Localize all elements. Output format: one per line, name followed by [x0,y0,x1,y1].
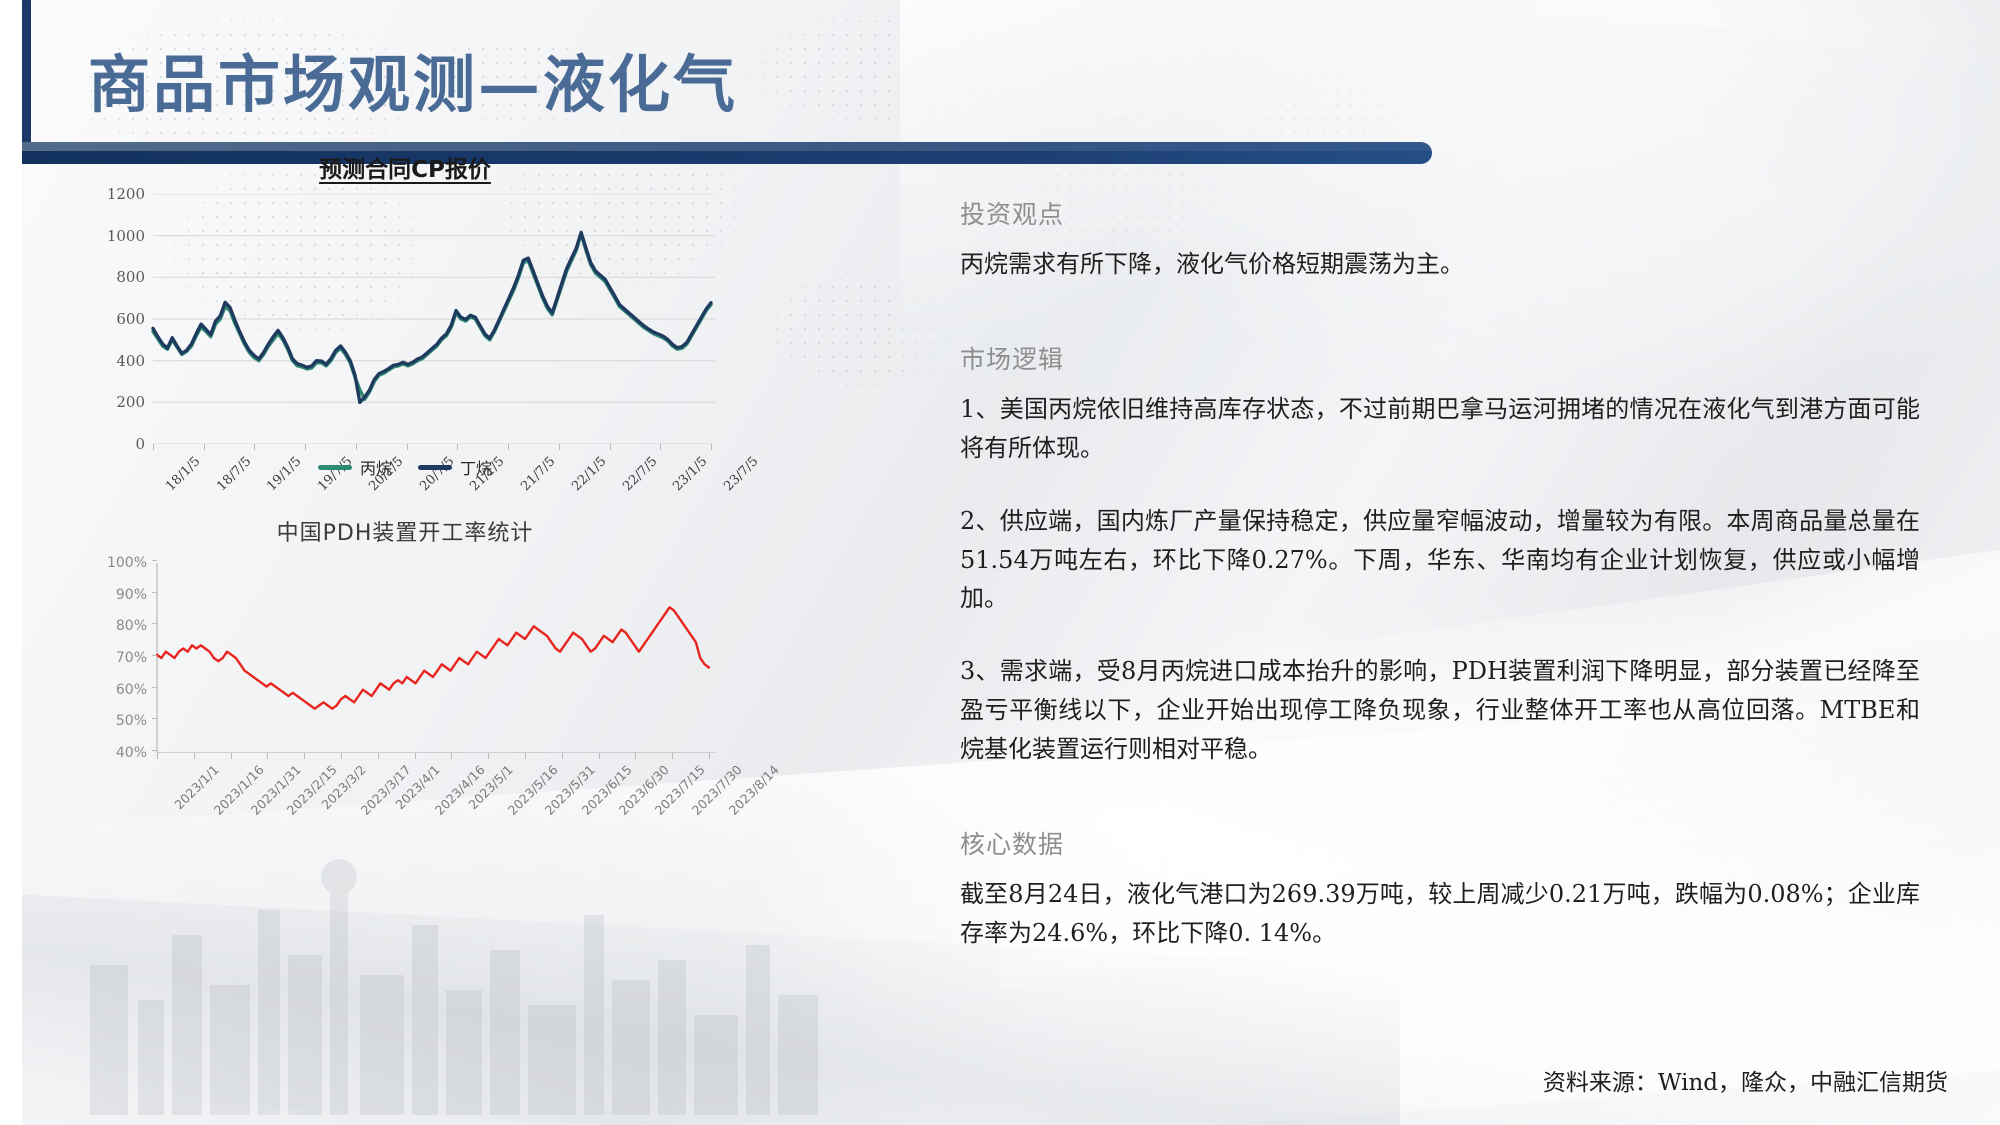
chart1-y-tick: 0 [135,435,145,453]
left-white-edge [0,0,22,1125]
chart2-x-tickmark [378,753,379,759]
commentary-panel: 投资观点 丙烷需求有所下降，液化气价格短期震荡为主。 市场逻辑 1、美国丙烷依旧… [960,195,1920,953]
section-heading: 市场逻辑 [960,340,1920,376]
chart1-tickmark [711,444,712,450]
chart2-x-tickmark [672,753,673,759]
section-paragraph: 3、需求端，受8月丙烷进口成本抬升的影响，PDH装置利润下降明显，部分装置已经降… [960,652,1920,769]
chart1-y-tick: 600 [116,310,145,328]
chart1-tickmark [457,444,458,450]
chart1-y-tick: 400 [116,352,145,370]
chart2-x-tickmark [635,753,636,759]
chart1-legend-item: 丁烷 [418,455,492,479]
chart2-x-tickmark [231,753,232,759]
chart2-x-tickmark [562,753,563,759]
chart2-x-tickmark [525,753,526,759]
chart1-plot-area [95,194,715,444]
chart-cp-forecast: 预测合同CP报价 020040060080010001200 18/1/518/… [95,150,715,490]
section-market-logic: 市场逻辑 1、美国丙烷依旧维持高库存状态，不过前期巴拿马运河拥堵的情况在液化气到… [960,340,1920,769]
chart1-tickmark [407,444,408,450]
chart2-y-tickmark [152,718,157,719]
chart2-y-tickmark [152,560,157,561]
legend-swatch [418,465,452,470]
chart1-tickmark [254,444,255,450]
spacer [960,468,1920,502]
chart1-tickmark [356,444,357,450]
chart2-y-tickmark [152,623,157,624]
chart2-y-tickmark [152,687,157,688]
chart2-y-tick: 40% [116,745,147,761]
chart2-y-tickmark [152,655,157,656]
section-paragraph: 2、供应端，国内炼厂产量保持稳定，供应量窄幅波动，增量较为有限。本周商品量总量在… [960,502,1920,619]
chart2-x-tickmark [341,753,342,759]
chart1-tickmark [610,444,611,450]
chart2-x-tickmark [709,753,710,759]
chart2-y-tickmark [152,592,157,593]
section-investment-view: 投资观点 丙烷需求有所下降，液化气价格短期震荡为主。 [960,195,1920,284]
spacer [960,618,1920,652]
source-note: 资料来源：Wind，隆众，中融汇信期货 [1543,1063,1948,1097]
chart2-y-tick: 90% [116,587,147,603]
chart2-x-tickmark [304,753,305,759]
chart1-tickmark [508,444,509,450]
chart1-series-svg [95,194,715,444]
chart-pdh-utilization: 中国PDH装置开工率统计 40%50%60%70%80%90%100% 2023… [95,515,715,845]
chart2-x-tickmark [488,753,489,759]
section-core-data: 核心数据 截至8月24日，液化气港口为269.39万吨，较上周减少0.21万吨，… [960,825,1920,953]
chart2-x-tickmark [194,753,195,759]
chart1-legend-item: 丙烷 [318,455,392,479]
chart1-title: 预测合同CP报价 [95,150,715,184]
chart1-y-tick: 1000 [107,227,145,245]
chart2-x-tickmark [599,753,600,759]
legend-label: 丁烷 [460,455,492,479]
chart2-y-tick: 80% [116,618,147,634]
chart1-legend: 丙烷丁烷 [95,455,715,479]
section-paragraph: 1、美国丙烷依旧维持高库存状态，不过前期巴拿马运河拥堵的情况在液化气到港方面可能… [960,390,1920,468]
chart2-title: 中国PDH装置开工率统计 [95,515,715,547]
section-heading: 核心数据 [960,825,1920,861]
chart2-plot-area [95,563,715,753]
chart1-tickmark [153,444,154,450]
page-title: 商品市场观测—液化气 [88,34,738,124]
chart2-y-tick: 100% [107,555,147,571]
city-skyline-watermark [60,815,880,1115]
chart2-y-tick: 50% [116,713,147,729]
chart1-tickmark [305,444,306,450]
chart2-x-tickmark [157,753,158,759]
legend-label: 丙烷 [360,455,392,479]
chart1-y-tick: 1200 [107,185,145,203]
left-accent-bar [22,0,31,160]
chart1-y-tick: 800 [116,268,145,286]
section-heading: 投资观点 [960,195,1920,231]
section-paragraph: 截至8月24日，液化气港口为269.39万吨，较上周减少0.21万吨，跌幅为0.… [960,875,1920,953]
chart1-y-tick: 200 [116,393,145,411]
chart2-series-svg [95,563,715,753]
chart2-x-tickmark [451,753,452,759]
section-paragraph: 丙烷需求有所下降，液化气价格短期震荡为主。 [960,245,1920,284]
chart2-y-tick: 70% [116,650,147,666]
chart2-x-tickmark [415,753,416,759]
legend-swatch [318,465,352,470]
spacer [960,284,1920,340]
slide: 商品市场观测—液化气 预测合同CP报价 02004006008001000120… [0,0,2000,1125]
spacer [960,769,1920,825]
chart2-y-tickmark [152,750,157,751]
chart1-tickmark [660,444,661,450]
chart1-tickmark [559,444,560,450]
chart2-y-tick: 60% [116,682,147,698]
chart1-tickmark [204,444,205,450]
chart2-x-tickmark [267,753,268,759]
